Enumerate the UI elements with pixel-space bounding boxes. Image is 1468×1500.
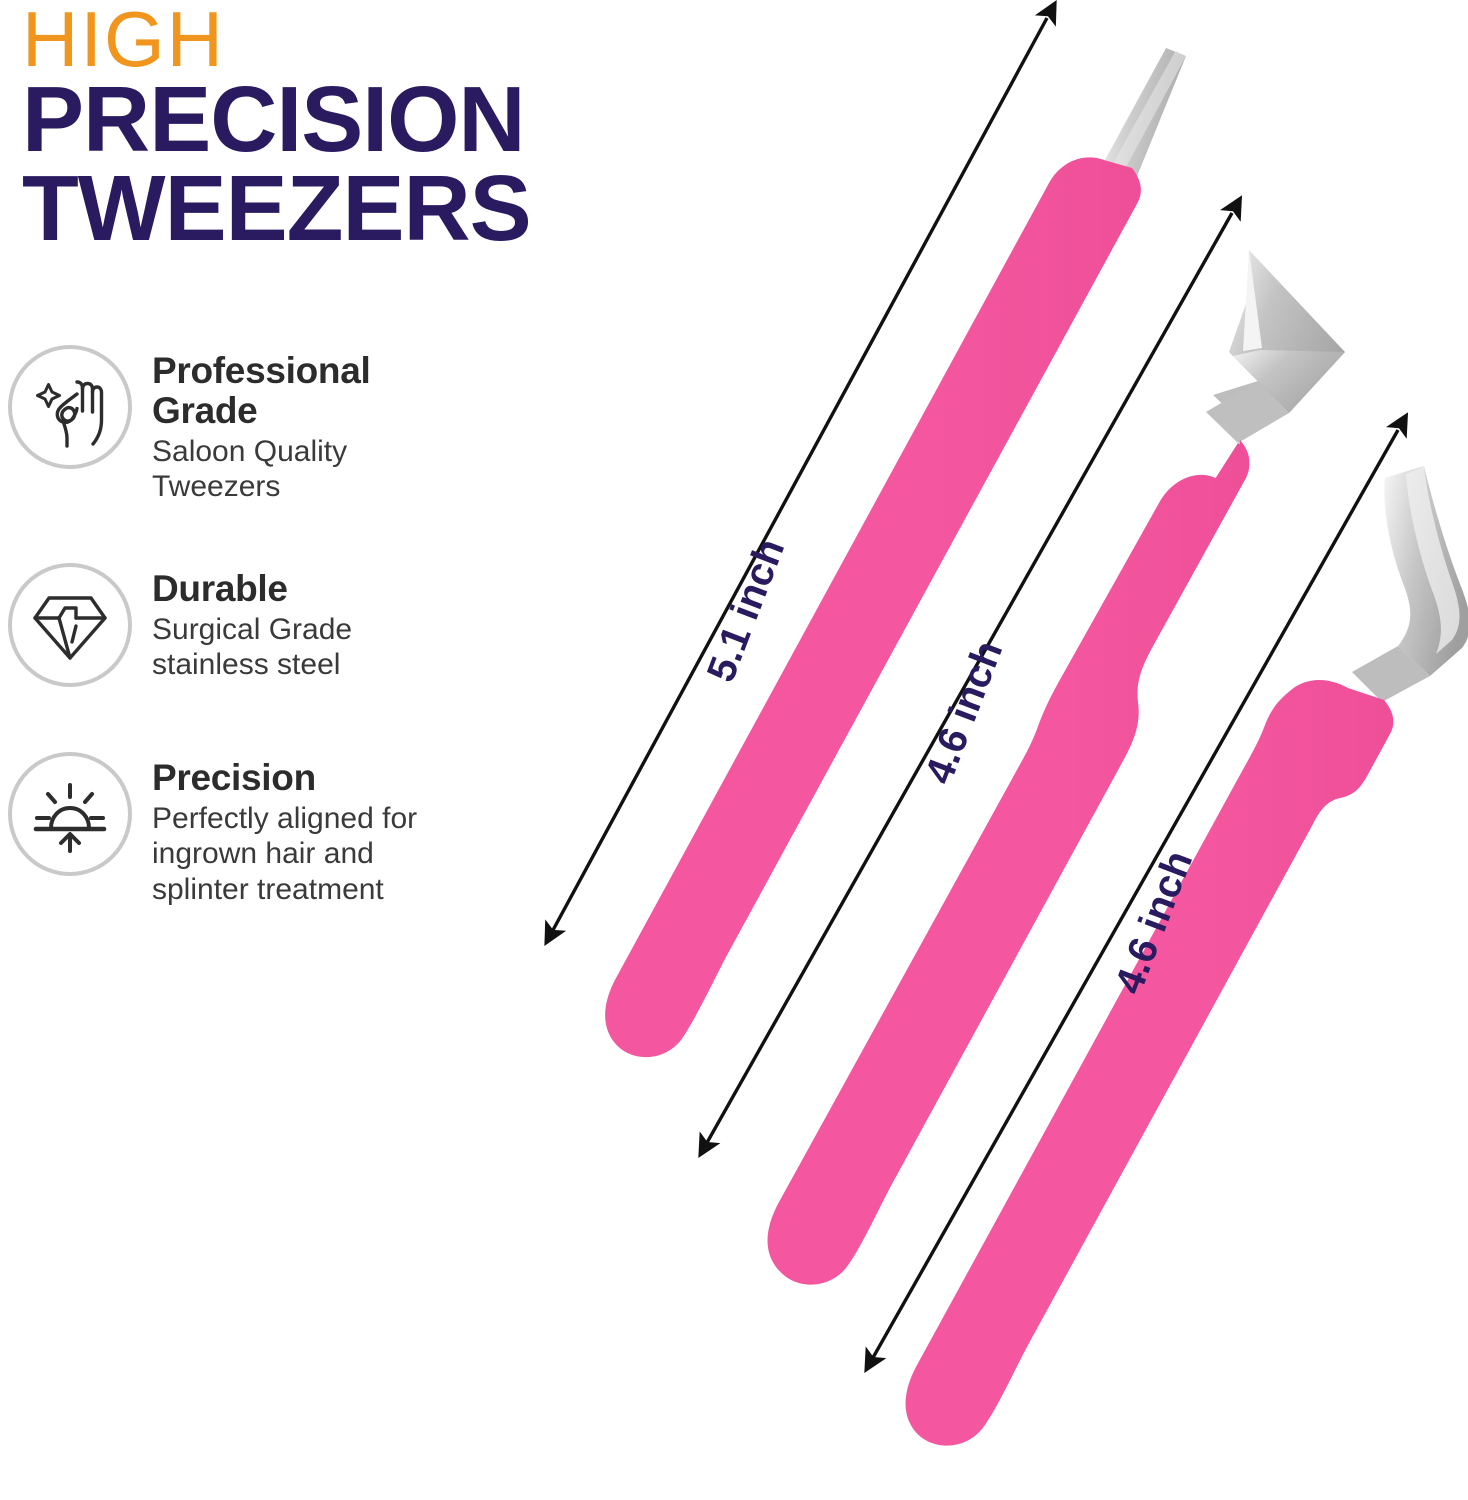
feature-description: Perfectly aligned for ingrown hair and s…: [152, 801, 478, 907]
diamond-icon: [29, 584, 111, 666]
feature-text: Durable Surgical Grade stainless steel: [152, 563, 478, 683]
headline-high: HIGH: [22, 2, 682, 77]
feature-title: Durable: [152, 569, 478, 609]
ok-hand-sparkle-icon: [27, 364, 113, 450]
feature-text: Professional Grade Saloon Quality Tweeze…: [152, 345, 478, 505]
feature-icon-badge: [8, 752, 132, 876]
dimension-arrow-3: [866, 430, 1398, 1370]
feature-description: Saloon Quality Tweezers: [152, 434, 478, 505]
dimension-label-3: 4.6 inch: [1107, 845, 1202, 1000]
info-panel: HIGH PRECISION TWEEZERS: [0, 0, 520, 1500]
headline-precision: PRECISION: [22, 77, 682, 163]
tweezer-angled-tip: [768, 250, 1345, 1285]
dimension-arrow-2: [700, 213, 1232, 1155]
feature-precision: Precision Perfectly aligned for ingrown …: [8, 752, 478, 907]
sunrise-arrow-icon: [29, 773, 111, 855]
feature-durable: Durable Surgical Grade stainless steel: [8, 563, 478, 687]
feature-icon-badge: [8, 345, 132, 469]
feature-professional-grade: Professional Grade Saloon Quality Tweeze…: [8, 345, 478, 505]
feature-description: Surgical Grade stainless steel: [152, 612, 478, 683]
dimension-label-2: 4.6 inch: [917, 635, 1012, 790]
tweezer-curved-tip: [906, 466, 1468, 1446]
headline-tweezers: TWEEZERS: [22, 166, 682, 252]
feature-text: Precision Perfectly aligned for ingrown …: [152, 752, 478, 907]
dimension-label-1: 5.1 inch: [699, 533, 794, 688]
feature-title: Precision: [152, 758, 478, 798]
tweezer-straight-point: [605, 48, 1186, 1057]
feature-icon-badge: [8, 563, 132, 687]
feature-title: Professional Grade: [152, 351, 478, 431]
page-title: HIGH PRECISION TWEEZERS: [22, 2, 682, 252]
